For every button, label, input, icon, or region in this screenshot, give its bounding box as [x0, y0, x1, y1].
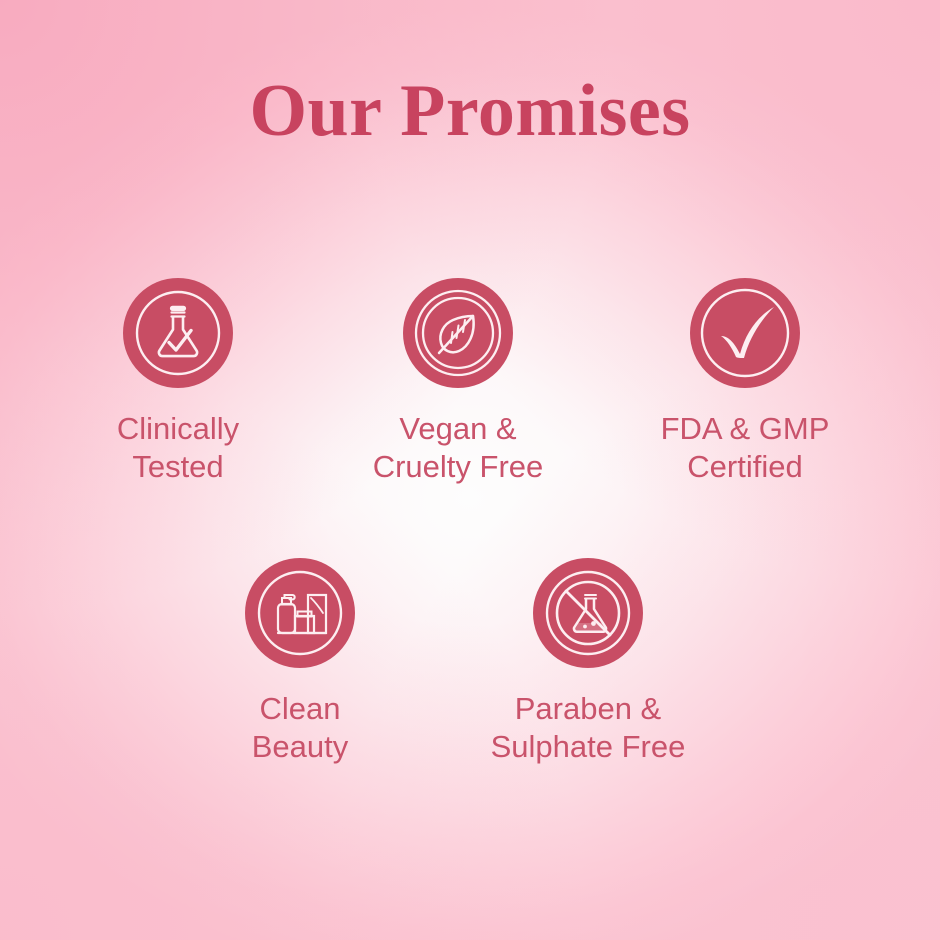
badge-vegan-cruelty-free [403, 278, 513, 388]
leaf-circle-icon [403, 278, 513, 388]
promise-label: Clean Beauty [252, 690, 349, 766]
promise-item-clinically-tested: Clinically Tested [63, 278, 293, 486]
page-title: Our Promises [0, 74, 940, 148]
promise-item-clean-beauty: Clean Beauty [185, 558, 415, 766]
badge-fda-gmp-certified [690, 278, 800, 388]
promise-label: FDA & GMP Certified [661, 410, 830, 486]
cosmetic-bottles-icon [245, 558, 355, 668]
promise-label: Clinically Tested [117, 410, 239, 486]
promise-item-fda-gmp-certified: FDA & GMP Certified [630, 278, 860, 486]
our-promises-panel: Our Promises Clinically Tested [0, 0, 940, 940]
promise-label: Paraben & Sulphate Free [491, 690, 686, 766]
no-flask-icon [533, 558, 643, 668]
badge-clinically-tested [123, 278, 233, 388]
badge-clean-beauty [245, 558, 355, 668]
promise-item-vegan-cruelty-free: Vegan & Cruelty Free [343, 278, 573, 486]
badge-paraben-sulphate-free [533, 558, 643, 668]
checkmark-circle-icon [690, 278, 800, 388]
promise-label: Vegan & Cruelty Free [373, 410, 544, 486]
flask-check-icon [123, 278, 233, 388]
promise-item-paraben-sulphate-free: Paraben & Sulphate Free [473, 558, 703, 766]
